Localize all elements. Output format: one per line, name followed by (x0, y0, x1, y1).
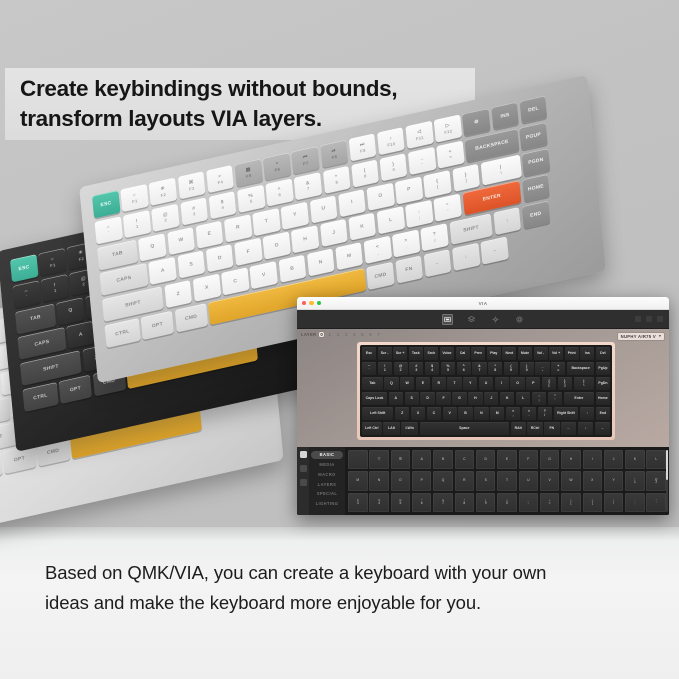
virtual-key-row: EscScr -Scr +TaskSrchVoiceCalPrevPlayNex… (362, 347, 610, 360)
scrollbar[interactable] (666, 450, 668, 512)
virtual-key-pgup[interactable]: PgUp (596, 362, 610, 375)
via-keymap-pane: LAYER 01234567 NUPHY AIR75 V ▾ EscScr -S… (297, 329, 669, 447)
keycap-option--[interactable]: ☰ (391, 450, 411, 469)
virtual-key-scr-[interactable]: Scr - (378, 347, 392, 360)
layer-label: LAYER (301, 332, 316, 337)
virtual-key--[interactable]: <, (506, 407, 520, 420)
virtual-key-r[interactable]: R (432, 377, 446, 390)
layer-button-6[interactable]: 6 (368, 332, 374, 337)
virtual-key-p[interactable]: P (526, 377, 540, 390)
virtual-key-j[interactable]: J (484, 392, 498, 405)
keycap-option--[interactable]: :; (625, 493, 645, 512)
virtual-key-c[interactable]: C (427, 407, 441, 420)
virtual-key-next[interactable]: Next (502, 347, 516, 360)
keycap-option-x[interactable]: X (583, 471, 603, 490)
keycap-option-c[interactable]: C (455, 450, 475, 469)
keycap-option-8[interactable]: *8 (455, 493, 475, 512)
via-sidebar[interactable] (297, 447, 309, 515)
via-app-window[interactable]: VIA LAYER 01234567 (297, 297, 669, 515)
virtual-key-o[interactable]: O (510, 377, 524, 390)
virtual-key-ins[interactable]: Ins (580, 347, 594, 360)
keycap-option-9[interactable]: (9 (476, 493, 496, 512)
keycap-option-s[interactable]: S (476, 471, 496, 490)
virtual-key-t[interactable]: T (447, 377, 461, 390)
virtual-key-v[interactable]: V (443, 407, 457, 420)
virtual-key-d[interactable]: D (420, 392, 434, 405)
via-toolbar (297, 310, 669, 329)
virtual-key-q[interactable]: Q (384, 377, 398, 390)
tab-basic[interactable]: BASIC (311, 451, 343, 459)
keycap-option-u[interactable]: U (519, 471, 539, 490)
virtual-key--0[interactable]: )0 (520, 362, 534, 375)
layer-button-0[interactable]: 0 (319, 332, 325, 337)
keycap-option-7[interactable]: &7 (433, 493, 453, 512)
keycap-option-3[interactable]: #3 (348, 493, 368, 512)
keycap-option-k[interactable]: K (625, 450, 645, 469)
caption: Based on QMK/VIA, you can create a keybo… (45, 558, 645, 618)
virtual-key-k[interactable]: K (500, 392, 514, 405)
keycap-option-n[interactable]: N (369, 471, 389, 490)
keymap-icon[interactable] (442, 314, 453, 325)
virtual-key-lwin[interactable]: LWin (401, 422, 418, 435)
keycap-option-blank[interactable] (348, 450, 368, 469)
virtual-key--[interactable]: ↑ (580, 407, 594, 420)
virtual-keyboard-keys[interactable]: EscScr -Scr +TaskSrchVoiceCalPrevPlayNex… (360, 345, 612, 437)
tab-media[interactable]: MEDIA (311, 461, 343, 469)
keyboard-select-dropdown[interactable]: NUPHY AIR75 V ▾ (617, 332, 665, 341)
virtual-key--7[interactable]: &7 (472, 362, 486, 375)
virtual-key--[interactable]: ~` (362, 362, 376, 375)
virtual-key-print[interactable]: Print (565, 347, 579, 360)
layouts-icon[interactable] (466, 314, 477, 325)
layer-selector[interactable]: LAYER 01234567 (301, 332, 381, 337)
virtual-key-row: TabQWERTYUIOP{[}]|\PgDn (362, 377, 610, 390)
via-key-picker: BASICMEDIAMACROLAYERSSPECIALLIGHTING ▽☰A… (297, 447, 669, 515)
tab-macro[interactable]: MACRO (311, 471, 343, 479)
keycap-option-2[interactable]: @2 (646, 471, 666, 490)
virtual-key--[interactable]: {[ (542, 377, 556, 390)
virtual-key-vol-[interactable]: Vol - (534, 347, 548, 360)
virtual-key-scr-[interactable]: Scr + (393, 347, 407, 360)
virtual-key-space[interactable]: Space (420, 422, 509, 435)
keycap-option-r[interactable]: R (455, 471, 475, 490)
virtual-key--2[interactable]: @2 (394, 362, 408, 375)
keycap-option--[interactable]: "' (646, 493, 666, 512)
virtual-key-row: Left CtrlLAltLWinSpaceRAltRCtrlFN←↓→ (362, 422, 610, 435)
virtual-key--[interactable]: :; (532, 392, 546, 405)
headline-line-1: Create keybindings without bounds, (20, 74, 480, 104)
win-maximize-icon[interactable] (646, 316, 652, 322)
virtual-key-left-ctrl[interactable]: Left Ctrl (362, 422, 382, 435)
virtual-key--[interactable]: >. (522, 407, 536, 420)
virtual-key-i[interactable]: I (495, 377, 509, 390)
layer-button-5[interactable]: 5 (360, 332, 366, 337)
keycap-option-g[interactable]: G (540, 450, 560, 469)
virtual-key-a[interactable]: A (389, 392, 403, 405)
virtual-key-row: Caps LockASDFGHJKL:;"'EnterHome (362, 392, 610, 405)
virtual-key-home[interactable]: Home (596, 392, 610, 405)
keycap-option--[interactable]: _- (519, 493, 539, 512)
layer-button-3[interactable]: 3 (343, 332, 349, 337)
virtual-key-task[interactable]: Task (409, 347, 423, 360)
virtual-key-tab[interactable]: Tab (362, 377, 383, 390)
keycap-option-4[interactable]: $4 (369, 493, 389, 512)
keycap-option-e[interactable]: E (497, 450, 517, 469)
keycap-option-i[interactable]: I (583, 450, 603, 469)
settings-icon[interactable] (514, 314, 525, 325)
virtual-key--4[interactable]: $4 (425, 362, 439, 375)
layer-button-4[interactable]: 4 (351, 332, 357, 337)
virtual-key--1[interactable]: !1 (378, 362, 392, 375)
keycap-option--[interactable]: }] (583, 493, 603, 512)
virtual-key-u[interactable]: U (479, 377, 493, 390)
virtual-key-e[interactable]: E (416, 377, 430, 390)
virtual-key-esc[interactable]: Esc (362, 347, 376, 360)
virtual-key-rctrl[interactable]: RCtrl (527, 422, 542, 435)
keycap-option-6[interactable]: ^6 (412, 493, 432, 512)
virtual-key-fn[interactable]: FN (544, 422, 559, 435)
virtual-key-m[interactable]: M (490, 407, 504, 420)
keycap-option-w[interactable]: W (561, 471, 581, 490)
virtual-key--[interactable]: += (551, 362, 565, 375)
virtual-key-row: Left ShiftZXCVBNM<,>.?/Right Shift↑End (362, 407, 610, 420)
virtual-key-vol-[interactable]: Vol + (549, 347, 563, 360)
keycap-option-y[interactable]: Y (604, 471, 624, 490)
virtual-key-del[interactable]: Del (596, 347, 610, 360)
keycap-option-d[interactable]: D (476, 450, 496, 469)
virtual-key-enter[interactable]: Enter (564, 392, 594, 405)
virtual-key-right-shift[interactable]: Right Shift (554, 407, 579, 420)
virtual-key-prev[interactable]: Prev (471, 347, 485, 360)
virtual-key-s[interactable]: S (405, 392, 419, 405)
virtual-key-pgdn[interactable]: PgDn (596, 377, 610, 390)
layer-button-7[interactable]: 7 (376, 332, 382, 337)
keyboard-select-label: NUPHY AIR75 V (621, 334, 656, 339)
keycap-option-h[interactable]: H (561, 450, 581, 469)
virtual-key--[interactable]: ↓ (578, 422, 593, 435)
keycap-option--[interactable]: |\ (604, 493, 624, 512)
keycap-option-1[interactable]: !1 (625, 471, 645, 490)
keycap-option-m[interactable]: M (348, 471, 368, 490)
keycap-option-b[interactable]: B (433, 450, 453, 469)
virtual-key-n[interactable]: N (474, 407, 488, 420)
virtual-key--[interactable]: _- (535, 362, 549, 375)
keycap-grid[interactable]: ▽☰ABCDEFGHIJKLMNOPQRSTUVWXY!1@2#3$4%5^6&… (348, 450, 666, 512)
virtual-keyboard[interactable]: EscScr -Scr +TaskSrchVoiceCalPrevPlayNex… (357, 342, 615, 440)
win-minimize-icon[interactable] (635, 316, 641, 322)
keycap-option-5[interactable]: %5 (391, 493, 411, 512)
caption-line-2: ideas and make the keyboard more enjoyab… (45, 588, 645, 618)
virtual-key-srch[interactable]: Srch (424, 347, 438, 360)
win-close-icon[interactable] (657, 316, 663, 322)
rotate-icon[interactable] (300, 465, 307, 472)
save-icon[interactable] (300, 451, 307, 458)
virtual-key-b[interactable]: B (458, 407, 472, 420)
virtual-key-play[interactable]: Play (487, 347, 501, 360)
virtual-key-g[interactable]: G (452, 392, 466, 405)
keycap-option--[interactable]: += (540, 493, 560, 512)
window-title: VIA (297, 301, 669, 306)
virtual-key-left-shift[interactable]: Left Shift (362, 407, 393, 420)
key-icon[interactable] (300, 479, 307, 486)
keycap-option-o[interactable]: O (391, 471, 411, 490)
keycap-option-q[interactable]: Q (433, 471, 453, 490)
virtual-key--9[interactable]: (9 (504, 362, 518, 375)
layer-button-1[interactable]: 1 (327, 332, 333, 337)
virtual-key--6[interactable]: ^6 (457, 362, 471, 375)
layer-button-2[interactable]: 2 (335, 332, 341, 337)
virtual-key--[interactable]: → (595, 422, 610, 435)
virtual-key--[interactable]: ?/ (538, 407, 552, 420)
keycap-option-a[interactable]: A (412, 450, 432, 469)
via-titlebar: VIA (297, 297, 669, 310)
virtual-key-end[interactable]: End (596, 407, 610, 420)
virtual-key--[interactable]: }] (558, 377, 572, 390)
virtual-key-cal[interactable]: Cal (456, 347, 470, 360)
virtual-key-row: ~`!1@2#3$4%5^6&7*8(9)0_-+=BackspacePgUp (362, 362, 610, 375)
virtual-key-h[interactable]: H (468, 392, 482, 405)
virtual-key-w[interactable]: W (400, 377, 414, 390)
tab-lighting[interactable]: LIGHTING (311, 500, 343, 508)
virtual-key-y[interactable]: Y (463, 377, 477, 390)
virtual-key--5[interactable]: %5 (441, 362, 455, 375)
virtual-key--[interactable]: ← (561, 422, 576, 435)
tab-layers[interactable]: LAYERS (311, 480, 343, 488)
virtual-key-f[interactable]: F (436, 392, 450, 405)
keycap-option-f[interactable]: F (519, 450, 539, 469)
virtual-key--3[interactable]: #3 (409, 362, 423, 375)
keycap-option-t[interactable]: T (497, 471, 517, 490)
caption-line-1: Based on QMK/VIA, you can create a keybo… (45, 558, 645, 588)
virtual-key--8[interactable]: *8 (488, 362, 502, 375)
virtual-key-voice[interactable]: Voice (440, 347, 454, 360)
chevron-down-icon: ▾ (659, 334, 661, 338)
keycap-option-0[interactable]: )0 (497, 493, 517, 512)
virtual-key--[interactable]: "' (548, 392, 562, 405)
virtual-key-x[interactable]: X (411, 407, 425, 420)
virtual-key-lalt[interactable]: LAlt (383, 422, 400, 435)
product-graphic: ESC☼F1☀F2⌘F3⌕F4▦F5~`!1@2#3$4TABQWERCAPSA… (0, 0, 679, 679)
window-controls[interactable] (635, 316, 663, 322)
keycap-option-j[interactable]: J (604, 450, 624, 469)
virtual-key-z[interactable]: Z (395, 407, 409, 420)
virtual-key-backspace[interactable]: Backspace (567, 362, 594, 375)
lighting-icon[interactable] (490, 314, 501, 325)
keycap-option--[interactable]: ▽ (369, 450, 389, 469)
virtual-key-mute[interactable]: Mute (518, 347, 532, 360)
virtual-key-l[interactable]: L (516, 392, 530, 405)
keycap-option-p[interactable]: P (412, 471, 432, 490)
keycap-option-v[interactable]: V (540, 471, 560, 490)
tab-special[interactable]: SPECIAL (311, 490, 343, 498)
keycap-grid-panel[interactable]: ▽☰ABCDEFGHIJKLMNOPQRSTUVWXY!1@2#3$4%5^6&… (345, 447, 669, 515)
keycap-option-l[interactable]: L (646, 450, 666, 469)
key-category-tabs[interactable]: BASICMEDIAMACROLAYERSSPECIALLIGHTING (309, 447, 345, 515)
virtual-key-caps-lock[interactable]: Caps Lock (362, 392, 387, 405)
keycap-option--[interactable]: {[ (561, 493, 581, 512)
virtual-key--[interactable]: |\ (574, 377, 595, 390)
virtual-key-ralt[interactable]: RAlt (511, 422, 526, 435)
